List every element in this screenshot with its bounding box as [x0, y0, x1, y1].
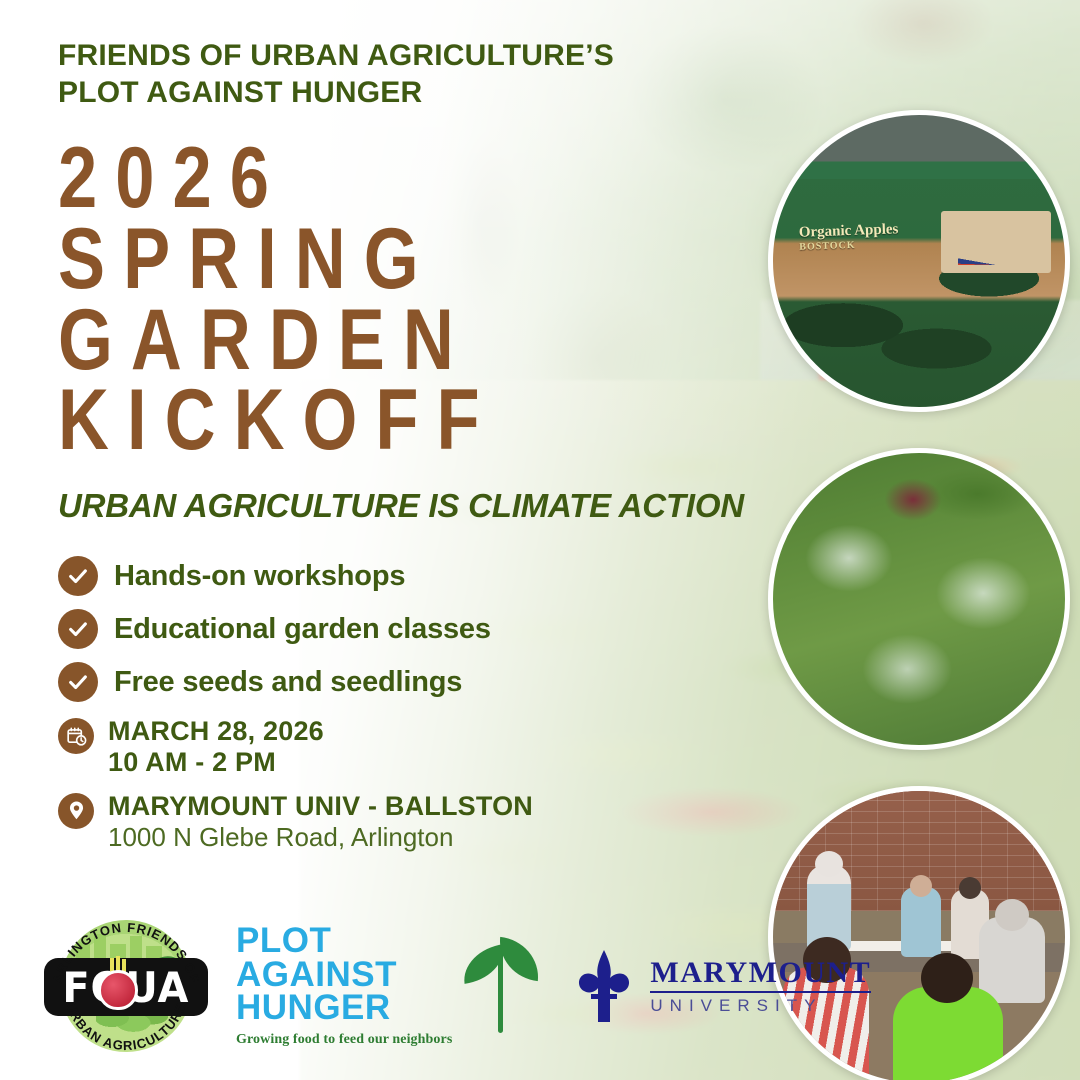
title-line-year: 2026 — [58, 138, 498, 219]
fleur-de-lis-icon — [574, 948, 634, 1024]
check-icon — [58, 662, 98, 702]
feature-label: Free seeds and seedlings — [114, 666, 462, 699]
sponsor-logo-row: FOUA ARLINGTON FRIENDS OF URBAN AGRICULT… — [40, 906, 871, 1066]
date-text: MARCH 28, 2026 10 AM - 2 PM — [108, 716, 324, 779]
event-time: 10 AM - 2 PM — [108, 747, 324, 778]
class-attendee — [901, 887, 941, 957]
pah-word-hunger: HUNGER — [236, 991, 452, 1025]
sprout-icon — [464, 939, 538, 1033]
feature-item: Free seeds and seedlings — [58, 662, 491, 702]
title-line-kickoff: KICKOFF — [58, 380, 498, 461]
foua-arc-bottom-label: URBAN AGRICULTURE — [63, 1001, 188, 1054]
foua-arc-text-bottom: URBAN AGRICULTURE — [40, 906, 212, 1066]
location-row: MARYMOUNT UNIV - BALLSTON 1000 N Glebe R… — [58, 791, 533, 854]
feature-list: Hands-on workshops Educational garden cl… — [58, 556, 491, 715]
event-date: MARCH 28, 2026 — [108, 716, 324, 747]
marymount-subtitle: UNIVERSITY — [650, 997, 871, 1014]
map-pin-icon — [58, 793, 94, 829]
pah-word-plot: PLOT — [236, 924, 452, 958]
event-address: 1000 N Glebe Road, Arlington — [108, 822, 533, 853]
event-venue: MARYMOUNT UNIV - BALLSTON — [108, 791, 533, 822]
location-text: MARYMOUNT UNIV - BALLSTON 1000 N Glebe R… — [108, 791, 533, 854]
svg-text:URBAN AGRICULTURE: URBAN AGRICULTURE — [63, 1001, 188, 1054]
feature-item: Hands-on workshops — [58, 556, 491, 596]
check-icon — [58, 609, 98, 649]
title-line-spring: SPRING — [58, 219, 498, 300]
produce-crate-sun-graphic — [941, 211, 1051, 273]
event-title: 2026 SPRING GARDEN KICKOFF — [58, 138, 594, 461]
event-tagline: URBAN AGRICULTURE IS CLIMATE ACTION — [58, 487, 778, 525]
date-row: MARCH 28, 2026 10 AM - 2 PM — [58, 716, 533, 779]
marymount-wordmark: MARYMOUNT UNIVERSITY — [650, 958, 871, 1014]
foua-logo: FOUA ARLINGTON FRIENDS OF URBAN AGRICULT… — [40, 906, 212, 1066]
photo-bagged-greens — [768, 448, 1070, 750]
organization-kicker: FRIENDS OF URBAN AGRICULTURE’S PLOT AGAI… — [58, 38, 698, 111]
event-details: MARCH 28, 2026 10 AM - 2 PM MARYMOUNT UN… — [58, 716, 533, 865]
feature-label: Educational garden classes — [114, 613, 491, 646]
marymount-name: MARYMOUNT — [650, 958, 871, 988]
organic-apples-box-label: Organic Apples BOSTOCK — [799, 221, 900, 252]
kicker-line-2: PLOT AGAINST HUNGER — [58, 75, 698, 112]
plot-against-hunger-logo: PLOT AGAINST HUNGER Growing food to feed… — [236, 924, 538, 1048]
photo-harvest-boxes: Organic Apples BOSTOCK — [768, 110, 1070, 412]
class-attendee — [979, 917, 1045, 1003]
feature-item: Educational garden classes — [58, 609, 491, 649]
class-attendee — [893, 987, 1003, 1080]
flyer-canvas: Organic Apples BOSTOCK FRIENDS OF URBAN … — [0, 0, 1080, 1080]
check-icon — [58, 556, 98, 596]
pah-tagline: Growing food to feed our neighbors — [236, 1032, 452, 1048]
marymount-rule — [650, 991, 871, 993]
feature-label: Hands-on workshops — [114, 560, 405, 593]
kicker-line-1: FRIENDS OF URBAN AGRICULTURE’S — [58, 38, 698, 75]
pah-wordmark: PLOT AGAINST HUNGER — [236, 924, 452, 1025]
marymount-university-logo: MARYMOUNT UNIVERSITY — [574, 948, 871, 1024]
calendar-clock-icon — [58, 718, 94, 754]
pah-word-against: AGAINST — [236, 958, 452, 992]
title-line-garden: GARDEN — [58, 300, 498, 381]
